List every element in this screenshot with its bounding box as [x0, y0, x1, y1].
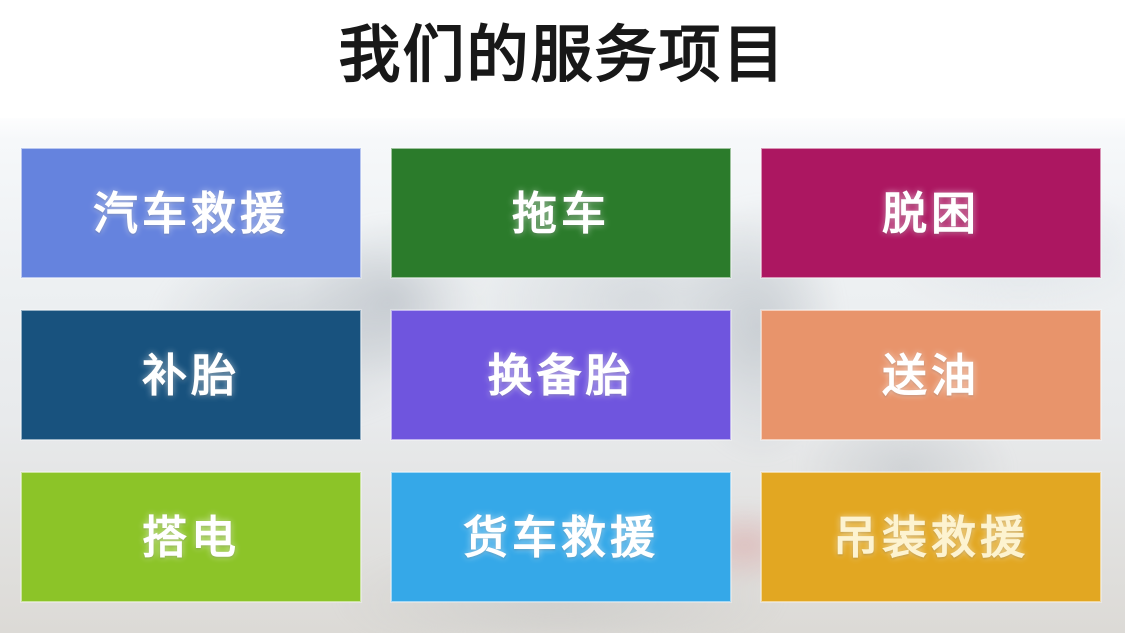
- service-tile-fuel-delivery[interactable]: 送油: [761, 310, 1101, 440]
- service-tile-spare-tire-change[interactable]: 换备胎: [391, 310, 731, 440]
- service-tile-label: 送油: [882, 353, 980, 398]
- service-tile-label: 搭电: [142, 515, 240, 560]
- service-tile-label: 换备胎: [487, 353, 634, 398]
- service-tile-car-rescue[interactable]: 汽车救援: [21, 148, 361, 278]
- service-tile-label: 补胎: [142, 353, 240, 398]
- header-bar: 我们的服务项目: [0, 0, 1125, 118]
- service-tile-extrication[interactable]: 脱困: [761, 148, 1101, 278]
- service-tile-grid: 汽车救援 拖车 脱困 补胎 换备胎 送油 搭电 货车救援 吊装救援: [21, 148, 1102, 602]
- service-tile-hoisting-rescue[interactable]: 吊装救援: [761, 472, 1101, 602]
- service-tile-truck-rescue[interactable]: 货车救援: [391, 472, 731, 602]
- service-tile-label: 吊装救援: [833, 515, 1029, 560]
- service-tile-label: 拖车: [512, 191, 610, 236]
- service-tile-label: 脱困: [882, 191, 980, 236]
- service-tile-tire-repair[interactable]: 补胎: [21, 310, 361, 440]
- service-tile-label: 货车救援: [463, 515, 659, 560]
- service-poster: 我们的服务项目 汽车救援 拖车 脱困 补胎 换备胎 送油 搭电 货车救援 吊装救…: [0, 0, 1125, 633]
- service-tile-label: 汽车救援: [93, 191, 289, 236]
- service-tile-tow-truck[interactable]: 拖车: [391, 148, 731, 278]
- service-tile-jump-start[interactable]: 搭电: [21, 472, 361, 602]
- page-title: 我们的服务项目: [338, 25, 786, 93]
